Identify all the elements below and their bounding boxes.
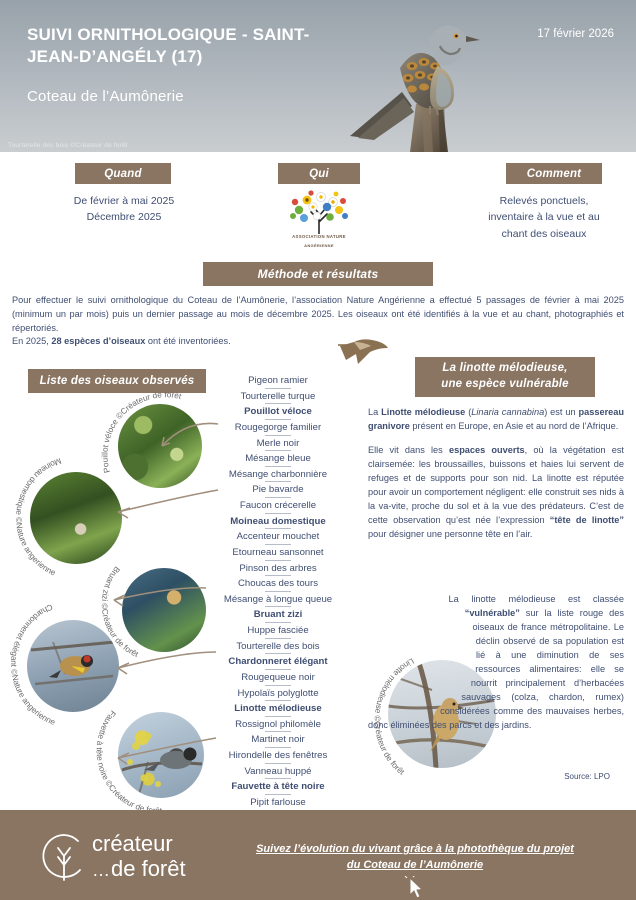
species-list-item: Tourterelle des bois: [212, 639, 344, 655]
logo-label-line-1: ASSOCIATION NATURE: [277, 234, 361, 239]
species-list-item: Mésange à longue queue: [212, 592, 344, 608]
link-line-1: Suivez l’évolution du vivant grâce à la …: [256, 843, 540, 855]
header-photo-credit: Tourterelle des bois ©Créateur de forêt: [8, 142, 128, 149]
linotte-paragraph-1: La Linotte mélodieuse (Linaria cannabina…: [368, 406, 624, 434]
species-list-item: Rossignol philomèle: [212, 717, 344, 733]
species-list-item: Huppe fasciée: [212, 623, 344, 639]
p2-bold-2: “tête de linotte”: [550, 515, 624, 525]
footer-brand: créateur …de forêt: [92, 832, 186, 881]
chip-comment: Comment: [506, 163, 602, 184]
methode-p2-prefix: En 2025,: [12, 336, 51, 346]
comment-line-2: inventaire à la vue et au: [458, 209, 630, 225]
p1-d: ) est un: [544, 407, 578, 417]
connector-arrow-last: [112, 736, 220, 766]
species-list-item: Etourneau sansonnet: [212, 545, 344, 561]
footer-brand-line-2-text: de forêt: [111, 856, 186, 881]
species-list-item: Pouillot véloce: [212, 404, 344, 420]
species-list-item: Merle noir: [212, 436, 344, 452]
photo-chardonneret-elegant: [27, 620, 119, 712]
species-list-item: Pinson des arbres: [212, 561, 344, 577]
chip-liste-des-oiseaux: Liste des oiseaux observés: [28, 369, 206, 393]
linotte-paragraph-2: Elle vit dans les espaces ouverts, où la…: [368, 444, 624, 542]
p2-d: pour désigner une personne tête en l’air…: [368, 529, 532, 539]
species-list-item: Faucon crécerelle: [212, 498, 344, 514]
methode-paragraph-2: En 2025, 28 espèces d’oiseaux ont été in…: [12, 335, 624, 349]
footer-brand-line-1: créateur: [92, 832, 186, 857]
quand-content: De février à mai 2025 Décembre 2025: [30, 193, 218, 226]
chip-methode-et-resultats: Méthode et résultats: [203, 262, 433, 286]
chip-linotte-line-2: une espèce vulnérable: [441, 377, 569, 393]
species-list-item: Chardonneret élégant: [212, 654, 344, 670]
methode-paragraphs: Pour effectuer le suivi ornithologique d…: [12, 294, 624, 349]
species-list-item: Rougegorge familier: [212, 420, 344, 436]
photo-library-link[interactable]: Suivez l’évolution du vivant grâce à la …: [250, 842, 580, 874]
text-wrap-spacer: [368, 593, 476, 715]
species-list-item: Pie bavarde: [212, 482, 344, 498]
p3-bold-vulnerable: “vulnérable”: [465, 608, 520, 618]
header-banner: SUIVI ORNITHOLOGIQUE - SAINT-JEAN-D’ANGÉ…: [0, 0, 636, 152]
turtle-dove-photo-illustration: [330, 8, 530, 152]
connector-arrow-middle: [114, 490, 220, 520]
page-title: SUIVI ORNITHOLOGIQUE - SAINT-JEAN-D’ANGÉ…: [27, 24, 327, 68]
photo-detail: [27, 620, 119, 712]
species-list-item: Moineau domestique: [212, 514, 344, 530]
footer-brand-line-2: …de forêt: [92, 857, 186, 882]
species-list-item: Pigeon ramier: [212, 373, 344, 389]
mouse-cursor-icon: [404, 876, 426, 900]
comment-line-1: Relevés ponctuels,: [458, 193, 630, 209]
comment-content: Relevés ponctuels, inventaire à la vue e…: [458, 193, 630, 242]
header-photo: [0, 0, 636, 152]
chip-linotte-melodieuse: La linotte mélodieuse, une espèce vulnér…: [415, 357, 595, 397]
species-list: Pigeon ramierTourterelle turquePouillot …: [212, 373, 344, 811]
chip-qui: Qui: [278, 163, 360, 184]
p1-e: présent en Europe, en Asie et au nord de…: [410, 421, 618, 431]
p2-bold-1: espaces ouverts: [449, 445, 525, 455]
p1-italic-species: Linaria cannabina: [471, 407, 544, 417]
species-list-item: Linotte mélodieuse: [212, 701, 344, 717]
report-date: 17 février 2026: [537, 28, 614, 40]
connector-arrow-lower: [106, 584, 212, 614]
species-list-item: Accenteur mouchet: [212, 529, 344, 545]
species-list-item: Vanneau huppé: [212, 764, 344, 780]
linotte-paragraph-3: La linotte mélodieuse est classée “vulné…: [368, 593, 624, 733]
p1-bold-1: Linotte mélodieuse: [381, 407, 465, 417]
p2-c: , où la végétation est clairsemée: les b…: [368, 445, 624, 525]
photo-moineau-domestique: [30, 472, 122, 564]
flying-bird-icon: [338, 334, 390, 368]
methode-paragraph-1: Pour effectuer le suivi ornithologique d…: [12, 294, 624, 335]
page-subtitle: Coteau de l’Aumônerie: [27, 88, 347, 105]
methode-p2-bold: 28 espèces d’oiseaux: [51, 336, 145, 346]
comment-line-3: chant des oiseaux: [458, 226, 630, 242]
chip-linotte-line-1: La linotte mélodieuse,: [442, 361, 567, 377]
p2-a: Elle vit dans les: [368, 445, 449, 455]
species-list-item: Hirondelle des fenêtres: [212, 748, 344, 764]
species-list-item: Mésange charbonnière: [212, 467, 344, 483]
connector-arrow-top: [100, 420, 220, 460]
chip-quand: Quand: [75, 163, 171, 184]
quand-line-2: Décembre 2025: [30, 209, 218, 225]
methode-p2-suffix: ont été inventoriées.: [145, 336, 230, 346]
logo-label-line-2: ANGÉRIENNE: [277, 243, 361, 248]
association-nature-angerienne-logo: ASSOCIATION NATURE ANGÉRIENNE: [277, 190, 361, 256]
species-list-item: Rougequeue noir: [212, 670, 344, 686]
footer: créateur …de forêt Suivez l’évolution du…: [0, 810, 636, 900]
flower-tree-icon: [277, 190, 361, 234]
species-list-item: Fauvette à tête noire: [212, 779, 344, 795]
species-list-item: Hypolaïs polyglotte: [212, 686, 344, 702]
species-list-item: Choucas des tours: [212, 576, 344, 592]
p1-a: La: [368, 407, 381, 417]
linotte-body: La Linotte mélodieuse (Linaria cannabina…: [368, 406, 624, 552]
species-list-item: Martinet noir: [212, 732, 344, 748]
species-list-item: Pipit farlouse: [212, 795, 344, 811]
quand-line-1: De février à mai 2025: [30, 193, 218, 209]
species-list-item: Bruant zizi: [212, 607, 344, 623]
connector-arrow-bottom: [112, 650, 220, 680]
createur-de-foret-logo-icon: [40, 832, 88, 882]
footer-brand-dots: …: [92, 860, 111, 880]
species-list-item: Mésange bleue: [212, 451, 344, 467]
infographic-page: SUIVI ORNITHOLOGIQUE - SAINT-JEAN-D’ANGÉ…: [0, 0, 636, 900]
p3-a: La linotte mélodieuse est classée: [449, 594, 624, 604]
source-label: Source: LPO: [564, 772, 610, 781]
species-list-item: Tourterelle turque: [212, 389, 344, 405]
